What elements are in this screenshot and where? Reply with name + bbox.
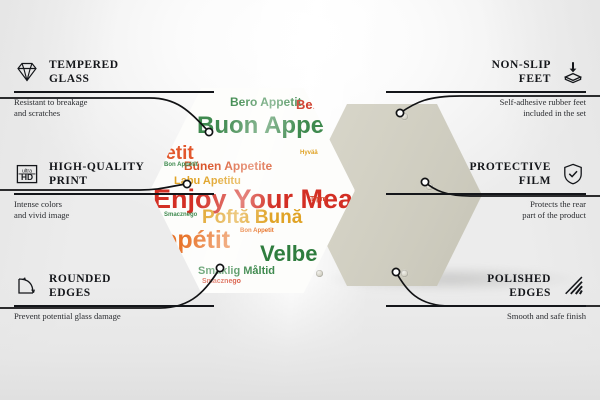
feature-desc-line: Smooth and safe finish bbox=[386, 311, 586, 322]
diagonal-lines-icon bbox=[560, 273, 586, 299]
feature-desc-line: part of the product bbox=[386, 210, 586, 221]
feature-polished-edges: POLISHED EDGES Smooth and safe finish bbox=[386, 272, 586, 322]
feature-title: NON-SLIP FEET bbox=[492, 58, 551, 86]
feature-header: PROTECTIVE FILM bbox=[386, 160, 586, 188]
feature-title-line: PROTECTIVE bbox=[469, 160, 551, 174]
ultra-hd-icon: ultra HD bbox=[14, 161, 40, 187]
shield-check-icon bbox=[560, 161, 586, 187]
feature-tempered-glass: TEMPERED GLASS Resistant to breakage and… bbox=[14, 58, 214, 119]
feature-title-line: EDGES bbox=[49, 286, 111, 300]
feature-divider bbox=[14, 91, 214, 93]
feature-divider bbox=[386, 193, 586, 195]
feature-high-quality-print: ultra HD HIGH-QUALITY PRINT Intense colo… bbox=[14, 160, 214, 221]
feature-title-line: FILM bbox=[469, 174, 551, 188]
diamond-icon bbox=[14, 59, 40, 85]
feature-desc-line: and vivid image bbox=[14, 210, 214, 221]
feature-desc-line: Intense colors bbox=[14, 199, 214, 210]
feature-title-line: TEMPERED bbox=[49, 58, 119, 72]
feature-rounded-edges: ROUNDED EDGES Prevent potential glass da… bbox=[14, 272, 214, 322]
feature-header: NON-SLIP FEET bbox=[386, 58, 586, 86]
feature-description: Self-adhesive rubber feet included in th… bbox=[386, 97, 586, 119]
feature-title-line: ROUNDED bbox=[49, 272, 111, 286]
infographic-canvas: Enjoy Your Meal.Buon AppeAppétitppetitPo… bbox=[0, 0, 600, 400]
feature-desc-line: and scratches bbox=[14, 108, 214, 119]
feature-divider bbox=[386, 91, 586, 93]
feature-description: Intense colors and vivid image bbox=[14, 199, 214, 221]
feature-divider bbox=[14, 193, 214, 195]
feature-desc-line: Prevent potential glass damage bbox=[14, 311, 214, 322]
feature-title-line: FEET bbox=[492, 72, 551, 86]
feature-header: TEMPERED GLASS bbox=[14, 58, 214, 86]
feature-title: HIGH-QUALITY PRINT bbox=[49, 160, 144, 188]
feature-description: Prevent potential glass damage bbox=[14, 311, 214, 322]
connector-endpoint-tempered-glass bbox=[205, 128, 212, 135]
feature-description: Resistant to breakage and scratches bbox=[14, 97, 214, 119]
connector-endpoint-rounded-edges bbox=[216, 264, 223, 271]
feature-desc-line: included in the set bbox=[386, 108, 586, 119]
feature-title: TEMPERED GLASS bbox=[49, 58, 119, 86]
feature-title-line: PRINT bbox=[49, 174, 144, 188]
feature-title-line: EDGES bbox=[487, 286, 551, 300]
feature-description: Smooth and safe finish bbox=[386, 311, 586, 322]
feature-title-line: HIGH-QUALITY bbox=[49, 160, 144, 174]
feature-title-line: GLASS bbox=[49, 72, 119, 86]
rubber-foot-icon bbox=[560, 59, 586, 85]
rounded-corner-icon bbox=[14, 273, 40, 299]
feature-desc-line: Resistant to breakage bbox=[14, 97, 214, 108]
feature-title-line: POLISHED bbox=[487, 272, 551, 286]
feature-divider bbox=[14, 305, 214, 307]
feature-desc-line: Self-adhesive rubber feet bbox=[386, 97, 586, 108]
feature-header: ROUNDED EDGES bbox=[14, 272, 214, 300]
feature-description: Protects the rear part of the product bbox=[386, 199, 586, 221]
feature-divider bbox=[386, 305, 586, 307]
feature-protective-film: PROTECTIVE FILM Protects the rear part o… bbox=[386, 160, 586, 221]
feature-title-line: NON-SLIP bbox=[492, 58, 551, 72]
feature-title: PROTECTIVE FILM bbox=[469, 160, 551, 188]
feature-header: ultra HD HIGH-QUALITY PRINT bbox=[14, 160, 214, 188]
feature-desc-line: Protects the rear bbox=[386, 199, 586, 210]
feature-header: POLISHED EDGES bbox=[386, 272, 586, 300]
feature-title: ROUNDED EDGES bbox=[49, 272, 111, 300]
feature-non-slip-feet: NON-SLIP FEET Self-adhesive rubber feet … bbox=[386, 58, 586, 119]
feature-title: POLISHED EDGES bbox=[487, 272, 551, 300]
